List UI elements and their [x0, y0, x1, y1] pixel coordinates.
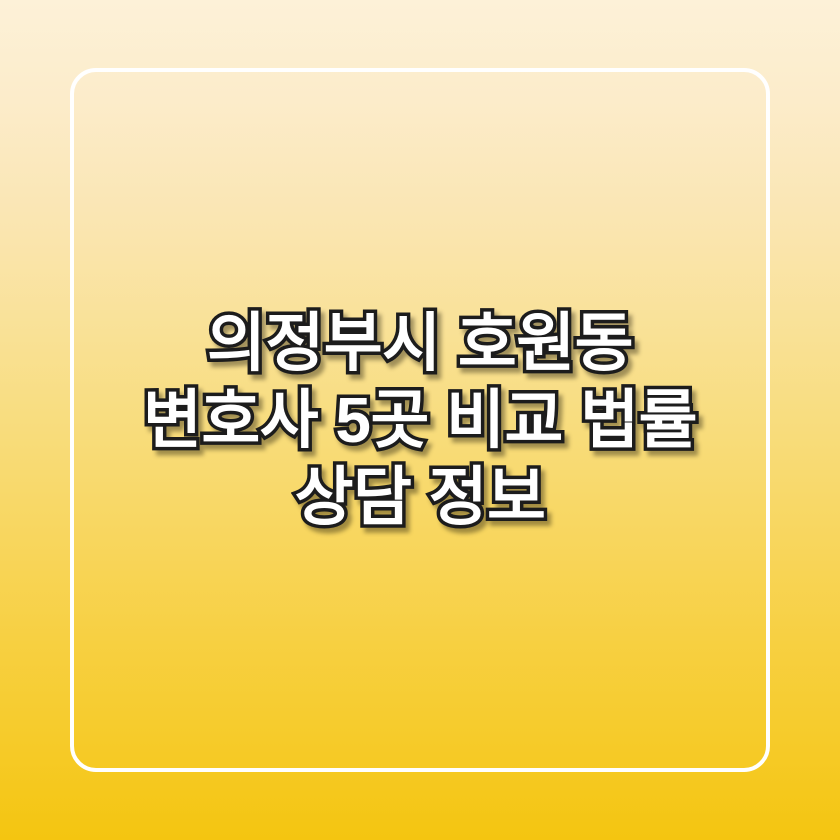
headline-line-1: 의정부시 호원동: [78, 306, 762, 381]
headline-line-3: 상담 정보: [78, 460, 762, 535]
headline-line-2: 변호사 5곳 비교 법률: [78, 383, 762, 458]
headline-block: 의정부시 호원동 변호사 5곳 비교 법률 상담 정보: [0, 0, 840, 840]
thumbnail-card: 의정부시 호원동 변호사 5곳 비교 법률 상담 정보: [0, 0, 840, 840]
